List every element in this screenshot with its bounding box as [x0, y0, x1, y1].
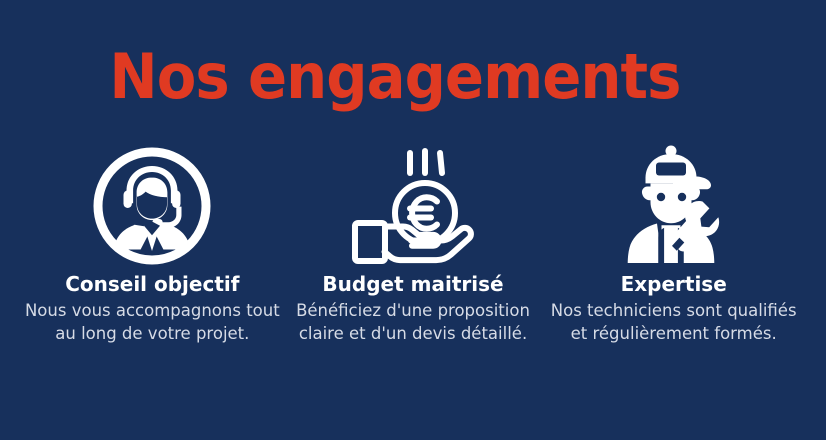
engagement-title: Conseil objectif — [65, 272, 239, 296]
engagement-column-budget: Budget maitrisé Bénéficiez d'une proposi… — [283, 140, 544, 345]
engagement-column-expertise: Expertise Nos techniciens sont qualifiés… — [543, 140, 804, 345]
engagement-columns: Conseil objectif Nous vous accompagnons … — [0, 140, 826, 345]
icon-container — [93, 140, 211, 272]
icon-container — [349, 140, 477, 272]
engagement-text: Nous vous accompagnons tout au long de v… — [22, 299, 282, 345]
icon-container — [616, 140, 732, 272]
engagement-text: Bénéficiez d'une proposition claire et d… — [283, 299, 543, 345]
engagement-title: Expertise — [621, 272, 727, 296]
engagement-title: Budget maitrisé — [322, 272, 503, 296]
engagements-poster: Nos engagements — [0, 0, 826, 440]
technician-worker-wrench-icon — [616, 145, 732, 267]
support-agent-headset-circle-icon — [93, 147, 211, 265]
hand-holding-euro-coin-icon — [349, 147, 477, 265]
engagement-text: Nos techniciens sont qualifiés et réguli… — [544, 299, 804, 345]
engagement-column-conseil: Conseil objectif Nous vous accompagnons … — [22, 140, 283, 345]
page-title: Nos engagements — [28, 44, 763, 110]
